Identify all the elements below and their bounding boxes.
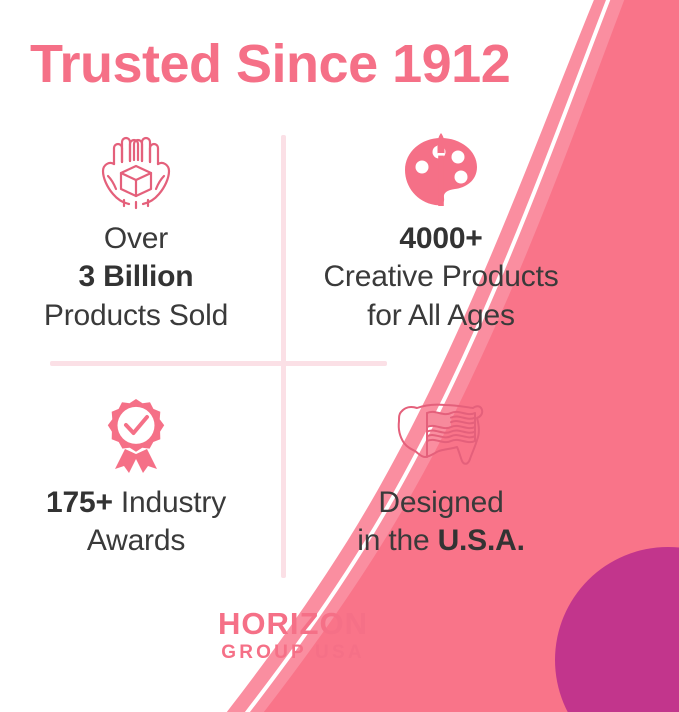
stat-line: Awards [46, 522, 226, 560]
stat-line: in the U.S.A. [357, 522, 524, 560]
stat-line-bold: 175+ [46, 486, 113, 519]
brand-logo-sub: GROUP USA [0, 641, 586, 665]
stat-line: 3 Billion [44, 258, 228, 296]
stat-line: Designed [357, 484, 524, 522]
page-title: Trusted Since 1912 [30, 36, 570, 93]
stat-block-creative-products: 4000+ Creative Products for All Ages [296, 128, 586, 335]
paint-palette-icon [395, 128, 487, 214]
stat-text-products-sold: Over 3 Billion Products Sold [44, 220, 228, 335]
usa-map-flag-icon [387, 392, 495, 478]
stat-line-rest: in the [357, 524, 437, 557]
stat-line: Creative Products [323, 258, 558, 296]
infographic-canvas: Trusted Since 1912 [0, 0, 679, 712]
stat-line-bold: 3 Billion [79, 260, 194, 293]
stat-text-designed-in-usa: Designed in the U.S.A. [357, 484, 524, 561]
divider-horizontal [50, 361, 387, 366]
stat-line-bold: U.S.A. [438, 524, 525, 557]
stat-line-bold: 4000+ [399, 222, 482, 255]
stat-block-products-sold: Over 3 Billion Products Sold [0, 128, 272, 335]
stat-text-creative-products: 4000+ Creative Products for All Ages [323, 220, 558, 335]
award-ribbon-icon [94, 392, 178, 478]
stat-block-designed-in-usa: Designed in the U.S.A. [296, 392, 586, 561]
stat-line-rest: Industry [113, 486, 226, 519]
stat-line: Over [44, 220, 228, 258]
stat-line: for All Ages [323, 297, 558, 335]
hands-holding-box-icon [88, 128, 184, 214]
divider-vertical [281, 135, 286, 578]
brand-logo: HORIZON GROUP USA [0, 608, 586, 665]
brand-logo-main: HORIZON [0, 608, 586, 639]
stat-block-industry-awards: 175+ Industry Awards [0, 392, 272, 561]
stat-line: 175+ Industry [46, 484, 226, 522]
stat-line: Products Sold [44, 297, 228, 335]
stat-text-industry-awards: 175+ Industry Awards [46, 484, 226, 561]
stat-line: 4000+ [323, 220, 558, 258]
